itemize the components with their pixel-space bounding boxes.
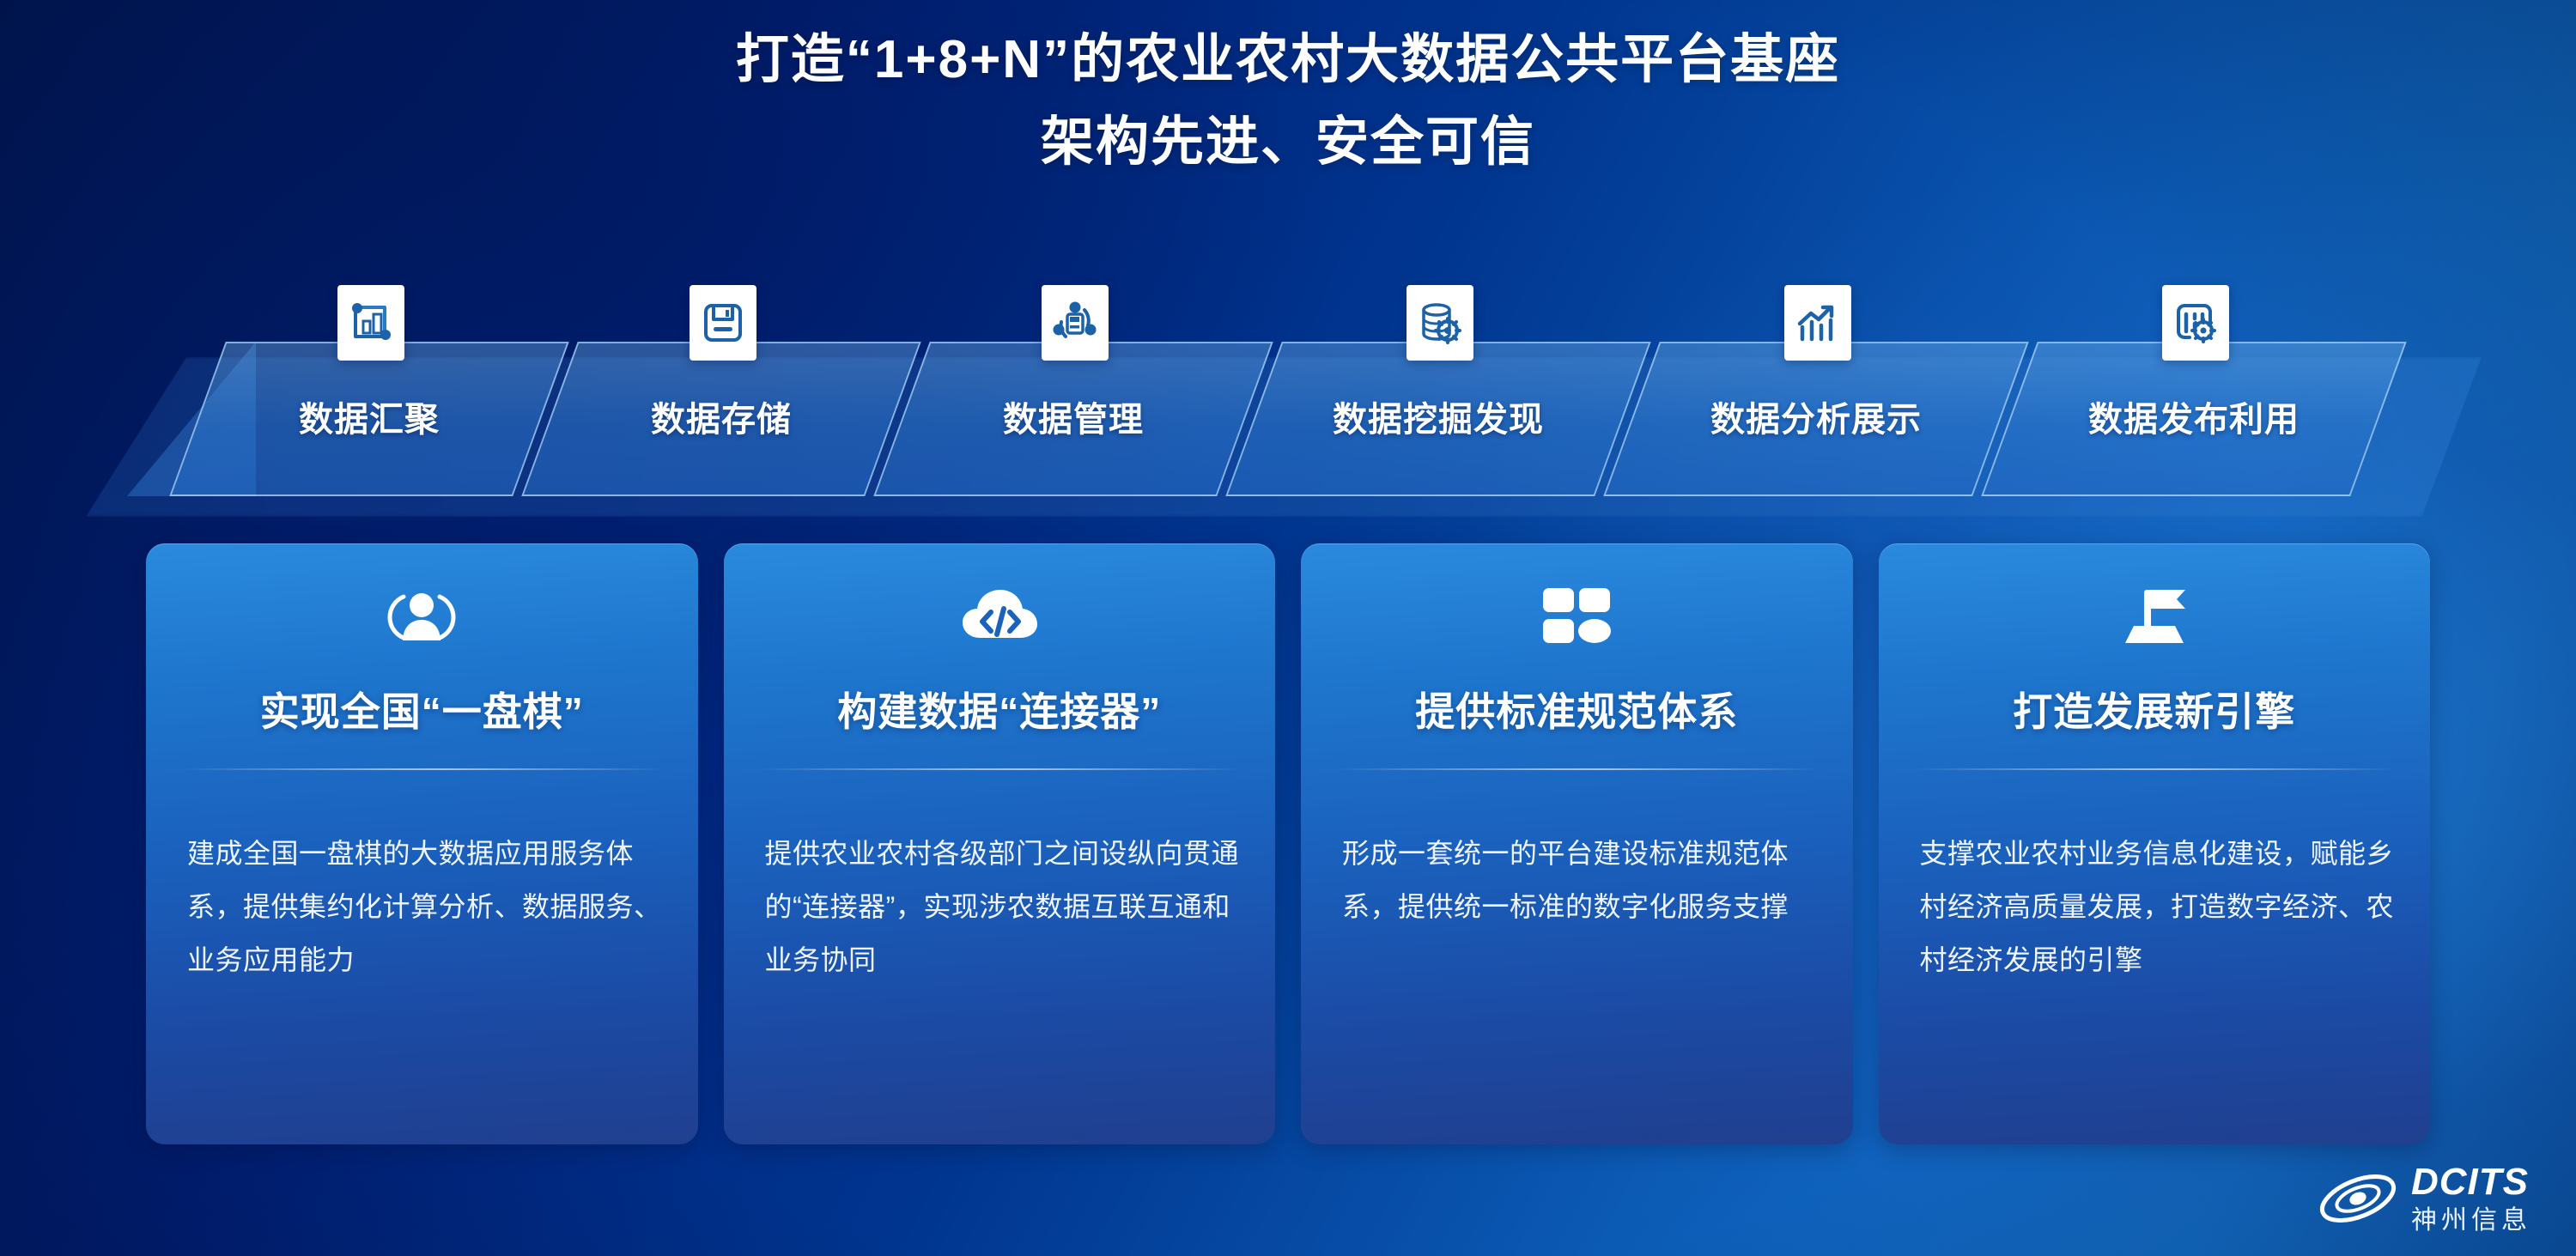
brand-name-cn: 神州信息 — [2411, 1208, 2531, 1234]
orbit-swirl-icon — [2317, 1165, 2399, 1232]
banner-stage-label: 数据存储 — [551, 391, 891, 441]
title-line-2: 架构先进、安全可信 — [0, 101, 2576, 184]
floppy-disk-icon — [690, 285, 756, 361]
feature-card[interactable]: 构建数据“连接器” 提供农业农村各级部门之间设纵向贯通的“连接器”，实现涉农数据… — [724, 543, 1276, 1144]
banner-stage-label: 数据管理 — [903, 391, 1243, 441]
trend-chart-icon — [1784, 285, 1851, 361]
banner-stage-1[interactable]: 数据汇聚 — [169, 342, 569, 496]
banner-stage-label: 数据发布利用 — [2011, 391, 2377, 441]
card-body: 提供农业农村各级部门之间设纵向贯通的“连接器”，实现涉农数据互联互通和业务协同 — [765, 827, 1240, 986]
page-title: 打造“1+8+N”的农业农村大数据公共平台基座 架构先进、安全可信 — [0, 19, 2576, 184]
card-title: 提供标准规范体系 — [1301, 681, 1853, 737]
people-group-icon — [146, 585, 698, 652]
four-blocks-icon — [1301, 585, 1853, 646]
bar-chart-node-icon — [337, 285, 404, 361]
banner-stage-label: 数据汇聚 — [199, 391, 539, 441]
flag-icon — [1879, 585, 2431, 648]
card-divider — [756, 768, 1243, 770]
slide-canvas: 打造“1+8+N”的农业农村大数据公共平台基座 架构先进、安全可信 — [0, 0, 2576, 1256]
card-title: 构建数据“连接器” — [724, 681, 1276, 737]
document-orbit-icon — [1042, 285, 1109, 361]
card-body: 形成一套统一的平台建设标准规范体系，提供统一标准的数字化服务支撑 — [1342, 827, 1817, 933]
banner-stage-label: 数据挖掘发现 — [1255, 391, 1621, 441]
banner-stage-label: 数据分析展示 — [1633, 391, 1999, 441]
cloud-code-icon — [724, 585, 1276, 646]
banner-stage-4[interactable]: 数据挖掘发现 — [1225, 342, 1651, 496]
banner-stage-5[interactable]: 数据分析展示 — [1603, 342, 2029, 496]
database-gear-icon — [1406, 285, 1473, 361]
banner-stage-2[interactable]: 数据存储 — [521, 342, 921, 496]
feature-card[interactable]: 提供标准规范体系 形成一套统一的平台建设标准规范体系，提供统一标准的数字化服务支… — [1301, 543, 1853, 1144]
title-line-1: 打造“1+8+N”的农业农村大数据公共平台基座 — [0, 19, 2576, 101]
card-divider — [179, 768, 665, 770]
brand-logo-text: DCITS 神州信息 — [2411, 1163, 2531, 1234]
brand-logo: DCITS 神州信息 — [2317, 1163, 2531, 1234]
card-body: 支撑农业农村业务信息化建设，赋能乡村经济高质量发展，打造数字经济、农村经济发展的… — [1920, 827, 2395, 986]
feature-card[interactable]: 实现全国“一盘棋” 建成全国一盘棋的大数据应用服务体系，提供集约化计算分析、数据… — [146, 543, 698, 1144]
banner-stage-3[interactable]: 数据管理 — [873, 342, 1273, 496]
panel-gear-icon — [2162, 285, 2229, 361]
banner-stage-6[interactable]: 数据发布利用 — [1981, 342, 2407, 496]
card-title: 实现全国“一盘棋” — [146, 681, 698, 737]
feature-card-list: 实现全国“一盘棋” 建成全国一盘棋的大数据应用服务体系，提供集约化计算分析、数据… — [146, 543, 2430, 1144]
card-divider — [1911, 768, 2398, 770]
brand-name-en: DCITS — [2411, 1163, 2531, 1201]
card-divider — [1334, 768, 1820, 770]
feature-card[interactable]: 打造发展新引擎 支撑农业农村业务信息化建设，赋能乡村经济高质量发展，打造数字经济… — [1879, 543, 2431, 1144]
data-lifecycle-banner: 数据汇聚 数据存储 — [146, 342, 2464, 496]
card-body: 建成全国一盘棋的大数据应用服务体系，提供集约化计算分析、数据服务、业务应用能力 — [187, 827, 662, 986]
card-title: 打造发展新引擎 — [1879, 681, 2431, 737]
